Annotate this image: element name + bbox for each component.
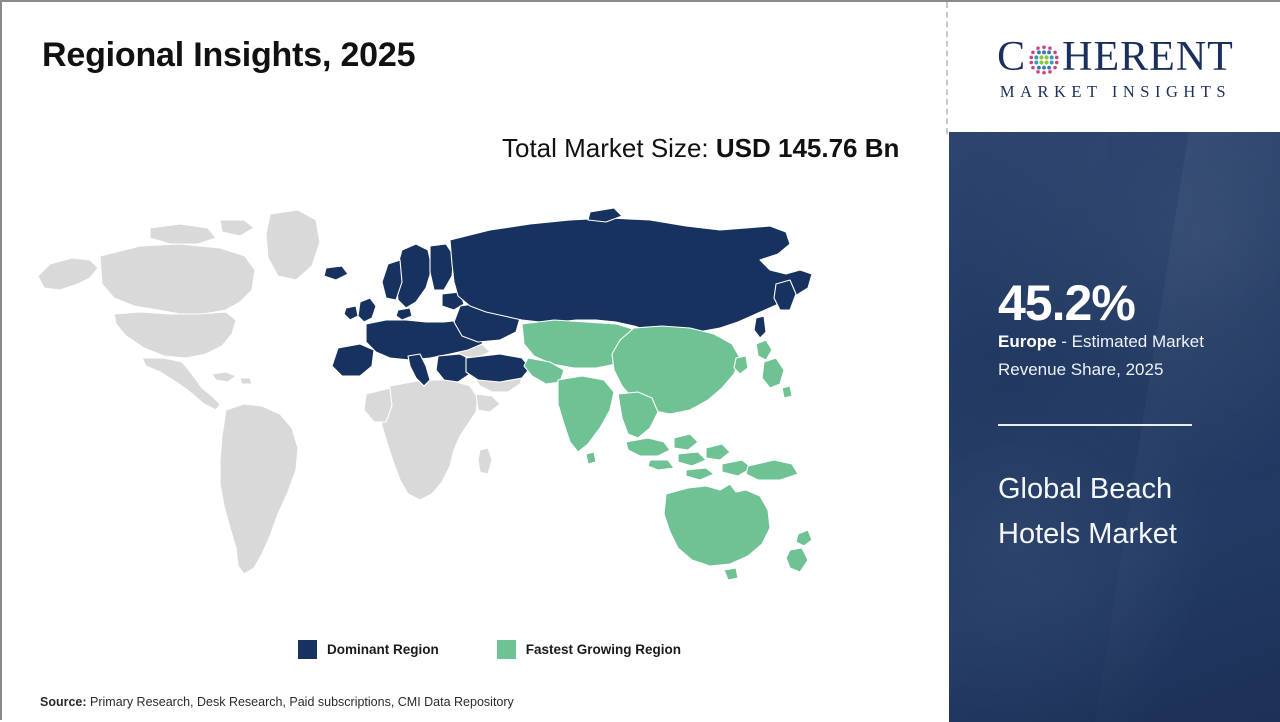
- square-swatch-icon: [497, 640, 516, 659]
- legend-label-fastest-growing: Fastest Growing Region: [526, 642, 681, 657]
- map-region-north-america: [38, 210, 320, 410]
- page-title: Regional Insights, 2025: [42, 36, 415, 75]
- total-market-size: Total Market Size: USD 145.76 Bn: [502, 128, 922, 168]
- logo-letter-c: C: [997, 36, 1026, 78]
- map-region-south-america: [220, 404, 298, 574]
- left-content-area: Regional Insights, 2025 Total Market Siz…: [2, 2, 947, 722]
- legend-item-dominant: Dominant Region: [298, 640, 439, 659]
- world-map: [30, 198, 830, 618]
- brand-logo: C: [949, 2, 1280, 132]
- globe-dot-sphere-icon: [1027, 43, 1061, 77]
- source-text: Primary Research, Desk Research, Paid su…: [87, 695, 514, 709]
- map-legend: Dominant Region Fastest Growing Region: [298, 640, 681, 659]
- infographic-page: Regional Insights, 2025 Total Market Siz…: [0, 0, 1280, 720]
- logo-letters-herent: HERENT: [1062, 36, 1234, 78]
- map-region-africa: [364, 380, 500, 500]
- vertical-dashed-divider: [946, 2, 948, 134]
- legend-item-fastest-growing: Fastest Growing Region: [497, 640, 681, 659]
- right-sidebar: C: [949, 2, 1280, 722]
- market-size-label: Total Market Size:: [502, 133, 716, 163]
- stat-value: 45.2%: [998, 274, 1135, 332]
- map-region-australia-nz: [664, 484, 812, 580]
- logo-wordmark: C: [966, 36, 1266, 78]
- market-size-value: USD 145.76 Bn: [716, 133, 900, 163]
- source-label: Source:: [40, 695, 87, 709]
- panel-divider: [998, 424, 1192, 426]
- stat-panel: 45.2% Europe - Estimated Market Revenue …: [949, 132, 1280, 722]
- map-region-southeast-asia: [626, 434, 798, 480]
- square-swatch-icon: [298, 640, 317, 659]
- stat-region-name: Europe: [998, 332, 1057, 351]
- legend-label-dominant: Dominant Region: [327, 642, 439, 657]
- stat-description: Europe - Estimated Market Revenue Share,…: [998, 328, 1248, 384]
- market-title: Global Beach Hotels Market: [998, 467, 1248, 557]
- logo-tagline: MARKET INSIGHTS: [966, 82, 1266, 102]
- source-note: Source: Primary Research, Desk Research,…: [40, 695, 514, 709]
